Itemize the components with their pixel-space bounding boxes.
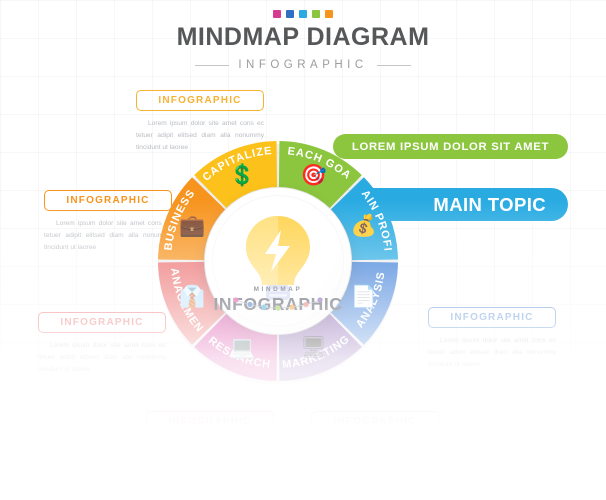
infographic-canvas: MINDMAP DIAGRAM INFOGRAPHIC LOREM IPSUM …: [0, 0, 606, 500]
badge-label: INFOGRAPHIC: [38, 312, 166, 333]
page-subtitle: INFOGRAPHIC: [238, 59, 367, 71]
hub-dot-6: [317, 297, 322, 302]
rule-left: [195, 65, 229, 66]
header-dot-0: [273, 10, 281, 18]
hub-dot-0: [233, 297, 238, 302]
info-block-management[interactable]: INFOGRAPHIC Lorem ipsum dolor site amet …: [38, 312, 166, 377]
laptop-chart-icon: 💻: [229, 336, 255, 359]
briefcase-icon: 💼: [179, 214, 205, 237]
money-hand-icon: 💰: [351, 212, 377, 238]
hub-dot-garland: [205, 188, 351, 334]
hub-small-word: MINDMAP: [205, 286, 351, 293]
hub-dot-5: [303, 302, 308, 307]
hub-dot-2: [261, 305, 266, 310]
header-dot-row: [0, 10, 606, 18]
header-dot-3: [312, 10, 320, 18]
hub-dot-4: [289, 305, 294, 310]
hub-dot-3: [275, 305, 280, 310]
rule-right: [377, 65, 411, 66]
badge-label: INFOGRAPHIC: [311, 411, 439, 432]
info-block-marketing[interactable]: INFOGRAPHIC Lorem ipsum dolor site amet …: [311, 411, 439, 476]
target-icon: 🎯: [301, 163, 327, 187]
dollar-coin-icon: 💲: [229, 162, 255, 187]
monitor-search-icon: 🖥: [300, 336, 327, 359]
badge-label: INFOGRAPHIC: [136, 90, 264, 111]
cloud-document-icon: 📄: [351, 284, 377, 309]
header-dot-2: [299, 10, 307, 18]
header-dot-1: [286, 10, 294, 18]
center-hub[interactable]: MINDMAP INFOGRAPHIC: [205, 188, 351, 334]
badge-label: INFOGRAPHIC: [146, 411, 274, 432]
header-subtitle-row: INFOGRAPHIC: [0, 59, 606, 71]
header-dot-4: [325, 10, 333, 18]
info-body: Lorem ipsum dolor site amet cons ec tetu…: [146, 439, 274, 476]
header: MINDMAP DIAGRAM INFOGRAPHIC: [0, 10, 606, 71]
hub-dot-1: [247, 302, 252, 307]
info-body: Lorem ipsum dolor site amet cons ec tetu…: [38, 340, 166, 377]
page-title: MINDMAP DIAGRAM: [0, 25, 606, 50]
info-body: Lorem ipsum dolor site amet cons ec tetu…: [311, 439, 439, 476]
badge-label: INFOGRAPHIC: [428, 307, 556, 328]
info-block-research[interactable]: INFOGRAPHIC Lorem ipsum dolor site amet …: [146, 411, 274, 476]
info-body: Lorem ipsum dolor site amet cons ec tetu…: [428, 335, 556, 372]
businessman-icon: 👔: [179, 284, 205, 309]
info-block-analysis[interactable]: INFOGRAPHIC Lorem ipsum dolor site amet …: [428, 307, 556, 372]
